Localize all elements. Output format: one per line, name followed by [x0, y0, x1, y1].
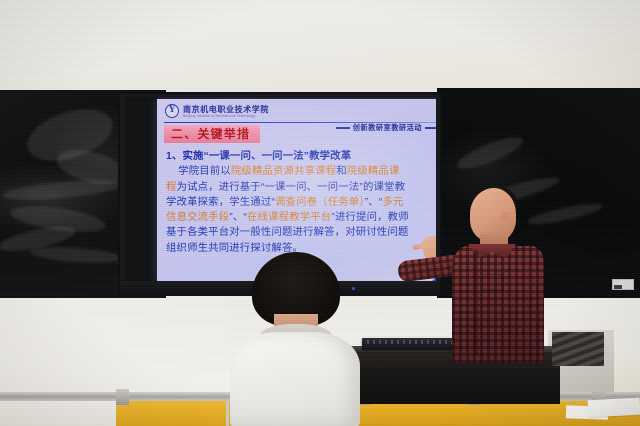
desk-panel-left — [114, 398, 234, 426]
institution-name-en: Nanjing Institute of Mechatronic Technol… — [183, 114, 269, 118]
section-heading-banner: 二、关键举措 — [164, 125, 260, 143]
highlight-term-5: 在线课程教学平台 — [247, 212, 331, 223]
wall-upper — [0, 0, 640, 92]
slide-line-3: 程为试点，进行基于“一课一问、一问一法”的课堂教 — [166, 180, 436, 195]
presenter-ear — [500, 212, 509, 224]
student-shirt — [230, 332, 360, 426]
slide-logo-block: 南京机电职业技术学院 Nanjing Institute of Mechatro… — [165, 104, 269, 118]
highlight-term-2-part: 院级精品课 — [347, 166, 400, 177]
slide-header-right: 创新教研室教研活动 — [336, 123, 436, 133]
rail-clamp-1 — [116, 389, 129, 405]
dash-right-icon — [425, 127, 436, 128]
papers-stack-1 — [588, 398, 640, 418]
school-logo-icon — [165, 104, 179, 118]
slide-line-4: 学改革探索，学生通过“调查问卷（任务单）”、“多元 — [166, 195, 436, 210]
board-label-plate — [612, 279, 634, 290]
activity-title: 创新教研室教研活动 — [353, 123, 422, 133]
line2-plain: 学院目前以 — [166, 166, 231, 177]
highlight-term-3: 调查问卷（任务单） — [275, 197, 365, 208]
slide-line-1: 1、实施“一课一问、一问一法”教学改革 — [166, 149, 436, 164]
institution-name-cn: 南京机电职业技术学院 — [183, 105, 269, 114]
section-heading-text: 二、关键举措 — [171, 127, 250, 141]
slide-body: 1、实施“一课一问、一问一法”教学改革 学院目前以院级精品资源共享课程和院级精品… — [166, 149, 436, 256]
slide-line-6: 基于各类平台对一般性问题进行解答，对研讨性问题 — [166, 225, 436, 240]
wall-foreground-left — [0, 398, 116, 426]
slide-line-5: 信息交流手段”、“在线课程教学平台”进行提问，教师 — [166, 210, 436, 225]
presenter-placket — [474, 250, 478, 355]
dash-left-icon — [336, 127, 350, 128]
presenter-pocket — [482, 274, 504, 290]
slide-line-2: 学院目前以院级精品资源共享课程和院级精品课 — [166, 164, 436, 179]
highlight-term-1: 院级精品资源共享课程 — [231, 166, 336, 177]
presenter-shirt — [452, 246, 544, 363]
classroom-scene: 南京机电职业技术学院 Nanjing Institute of Mechatro… — [0, 0, 640, 426]
seated-student — [226, 252, 362, 426]
presenter — [424, 188, 550, 363]
equipment-grille — [552, 332, 604, 366]
